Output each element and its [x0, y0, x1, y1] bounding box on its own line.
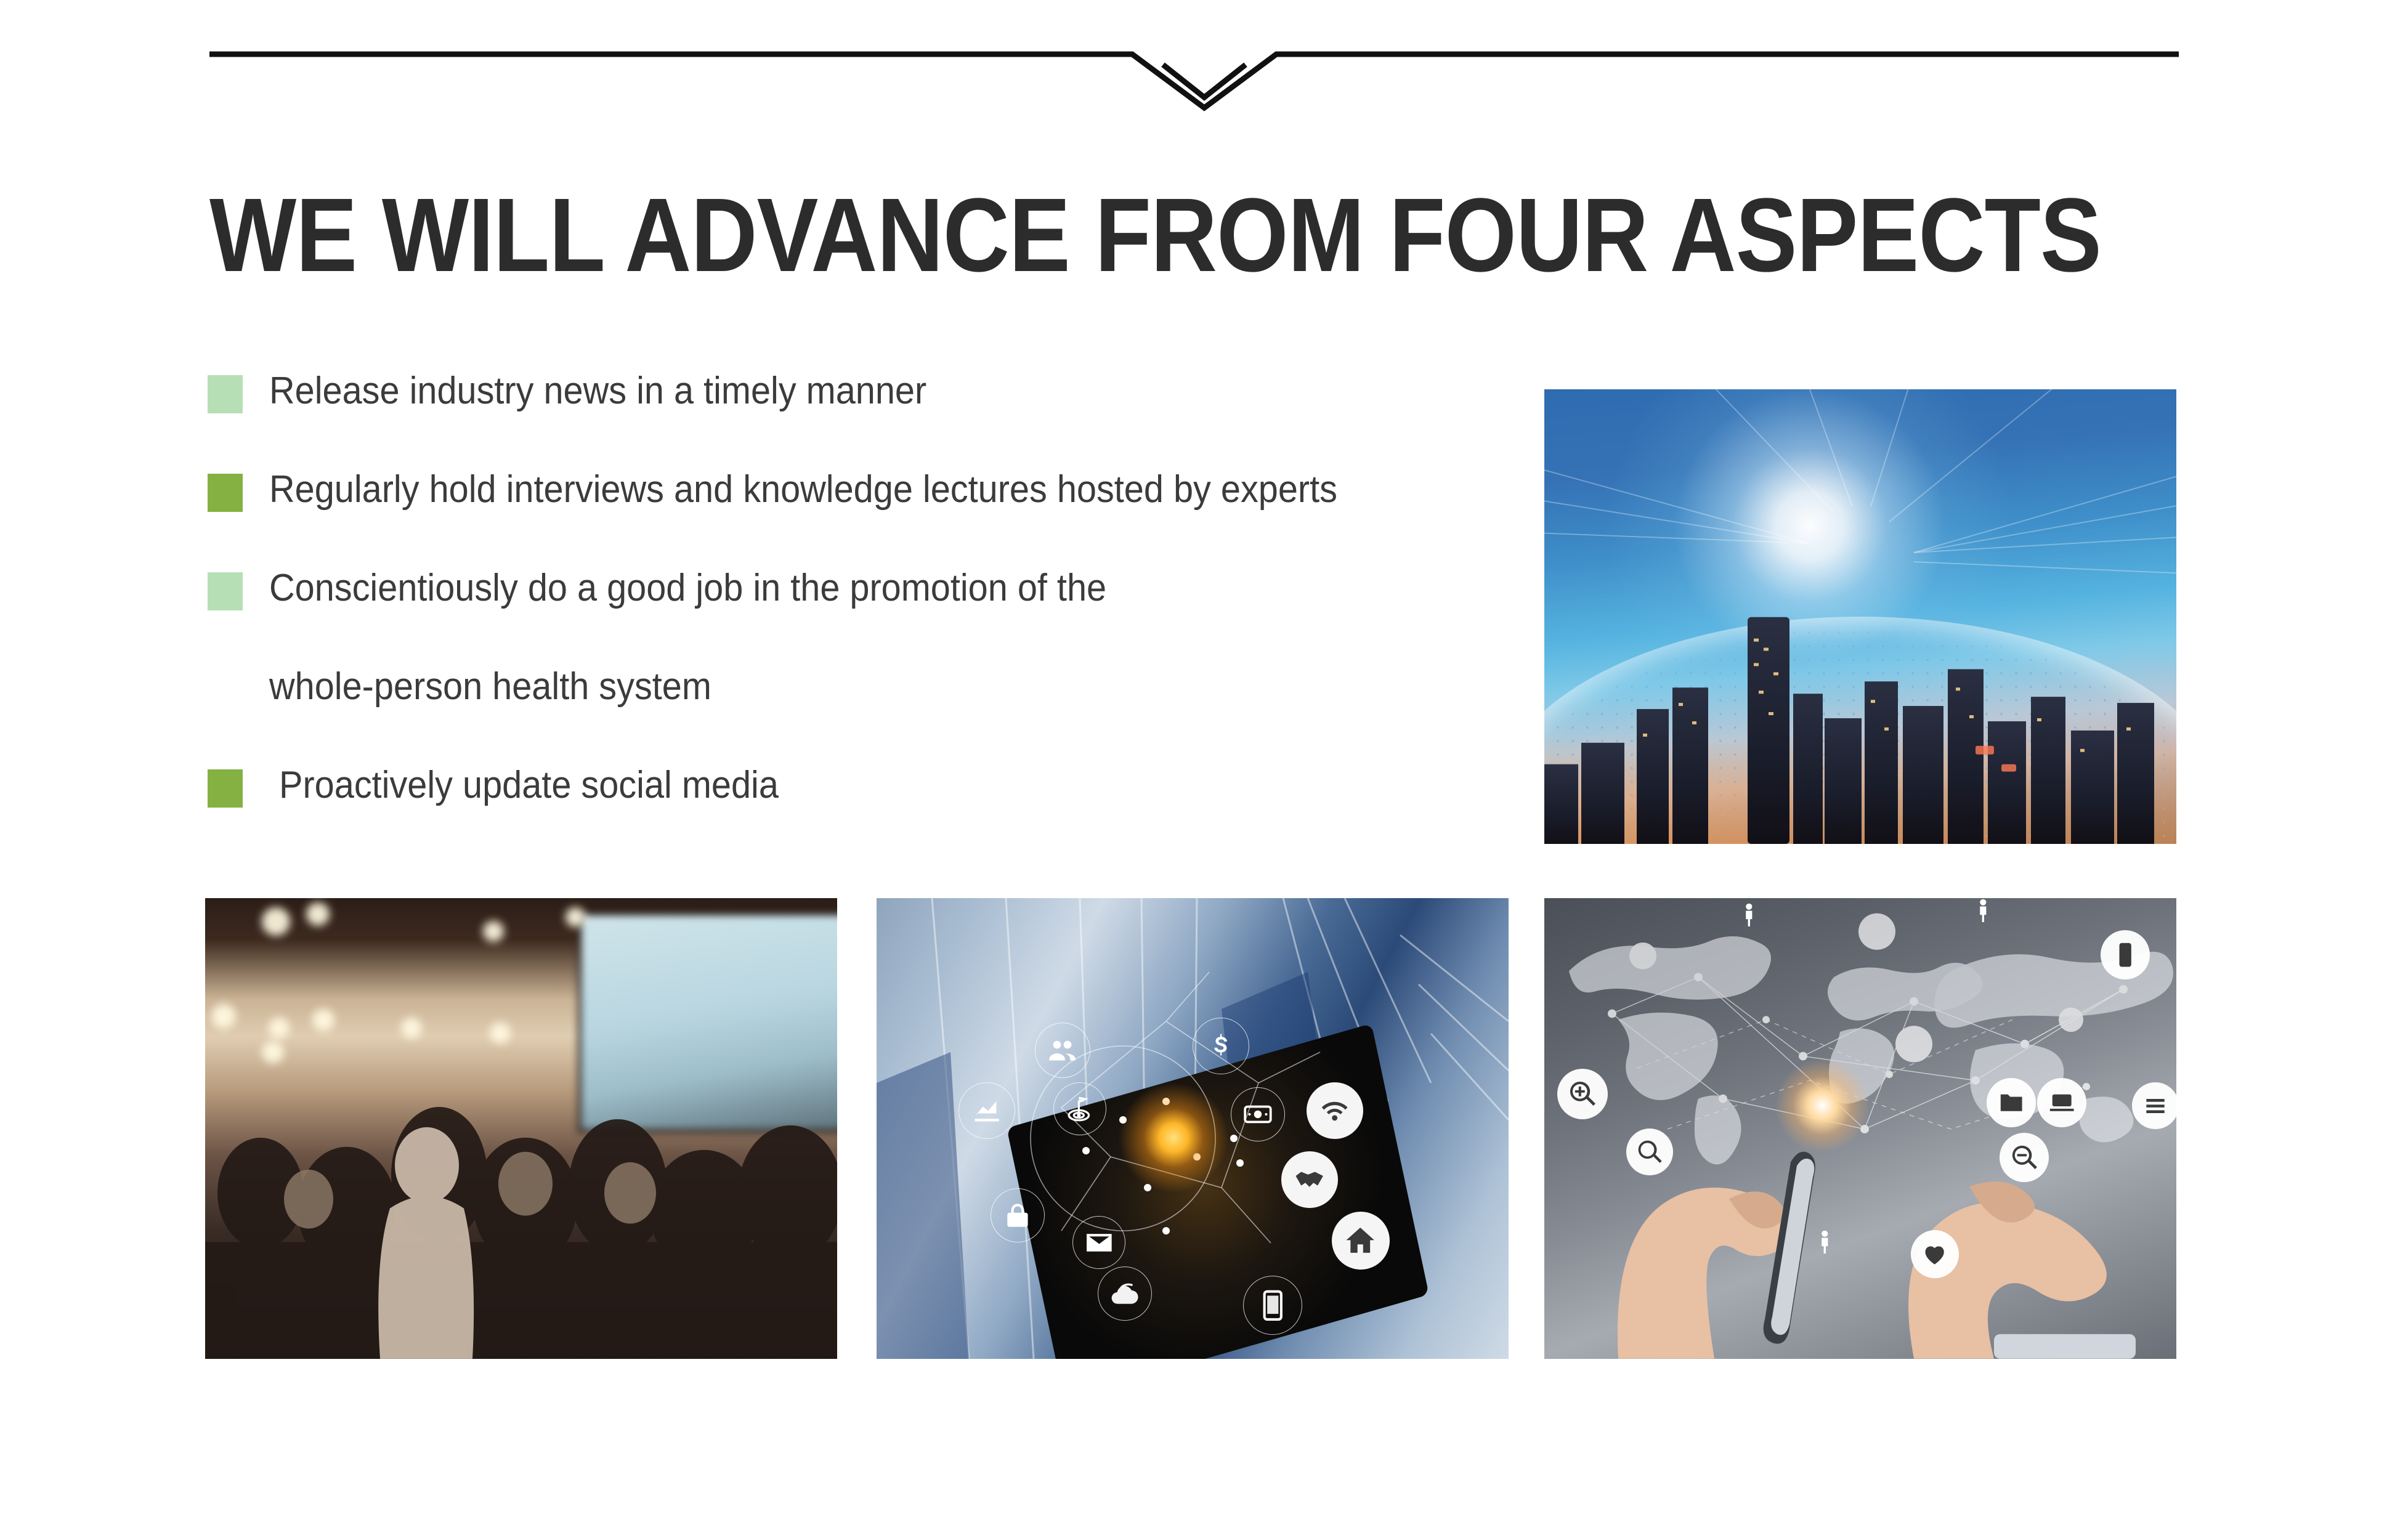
list-item-label: Proactively update social media	[269, 761, 779, 809]
list-item-label: Conscientiously do a good job in the pro…	[269, 564, 1106, 612]
double-chevron-down-icon	[1163, 65, 1246, 97]
laptop-icon	[2037, 1078, 2086, 1127]
search-icon	[1626, 1129, 1673, 1175]
projection-screen	[578, 912, 837, 1133]
folder-icon	[1987, 1078, 2036, 1127]
tablet-business-icons-photo	[877, 898, 1509, 1359]
list-item: Conscientiously do a good job in the pro…	[208, 564, 1514, 663]
slide-canvas: WE WILL ADVANCE FROM FOUR ASPECTS Releas…	[0, 0, 2387, 1540]
divider-svg	[0, 0, 2387, 123]
bullet-marker-square	[208, 474, 243, 512]
bullet-marker-square	[208, 572, 243, 610]
home-icon	[1332, 1212, 1390, 1270]
bokeh-light	[211, 1004, 236, 1029]
bullet-marker-square	[208, 769, 243, 808]
list-item-label: whole-person health system	[269, 663, 711, 711]
banknote-icon	[1231, 1087, 1285, 1141]
list-item-label: Regularly hold interviews and knowledge …	[269, 466, 1337, 514]
list-item-continuation: whole-person health system	[208, 663, 1514, 761]
bullet-marker-square	[208, 375, 243, 413]
zoom-out-icon	[2000, 1133, 2049, 1182]
bokeh-light	[490, 1023, 511, 1044]
bokeh-light	[565, 907, 585, 927]
bokeh-light	[262, 907, 290, 936]
zoom-in-icon	[1557, 1069, 1608, 1119]
conference-audience-photo	[205, 898, 837, 1359]
heart-icon	[1911, 1230, 1959, 1278]
bullet-list: Release industry news in a timely manner…	[208, 367, 1514, 860]
menu-icon	[2132, 1082, 2176, 1129]
list-item: Release industry news in a timely manner	[208, 367, 1514, 466]
wifi-icon	[1307, 1082, 1363, 1139]
handshake-icon	[1281, 1151, 1338, 1208]
audience-silhouettes	[205, 1101, 837, 1359]
bokeh-light	[269, 1018, 290, 1039]
phone-icon	[2101, 930, 2150, 979]
cloud-wifi-icon	[1098, 1266, 1152, 1321]
envelope-icon	[1072, 1216, 1125, 1269]
list-item: Regularly hold interviews and knowledge …	[208, 466, 1514, 564]
person-icon	[1728, 898, 1771, 937]
bokeh-light	[312, 1009, 334, 1031]
page-title: WE WILL ADVANCE FROM FOUR ASPECTS	[209, 183, 2101, 288]
city-skyline	[1544, 580, 2176, 844]
divider-line-outer-chevron	[209, 54, 2179, 108]
people-icon	[1035, 1023, 1090, 1078]
dollar-icon	[1193, 1018, 1249, 1074]
list-item: Proactively update social media	[208, 761, 1514, 860]
smart-city-globe-photo	[1544, 389, 2176, 844]
target-icon	[1053, 1082, 1106, 1135]
bokeh-light	[262, 1041, 284, 1063]
golden-light-flare	[1118, 1082, 1229, 1193]
list-item-label: Release industry news in a timely manner	[269, 367, 926, 415]
smartphone-world-network-photo	[1544, 898, 2176, 1359]
lock-icon	[991, 1188, 1045, 1242]
top-divider	[0, 0, 2387, 123]
chart-icon	[958, 1082, 1015, 1139]
phone-icon	[1243, 1276, 1302, 1335]
person-icon	[1804, 1221, 1847, 1264]
